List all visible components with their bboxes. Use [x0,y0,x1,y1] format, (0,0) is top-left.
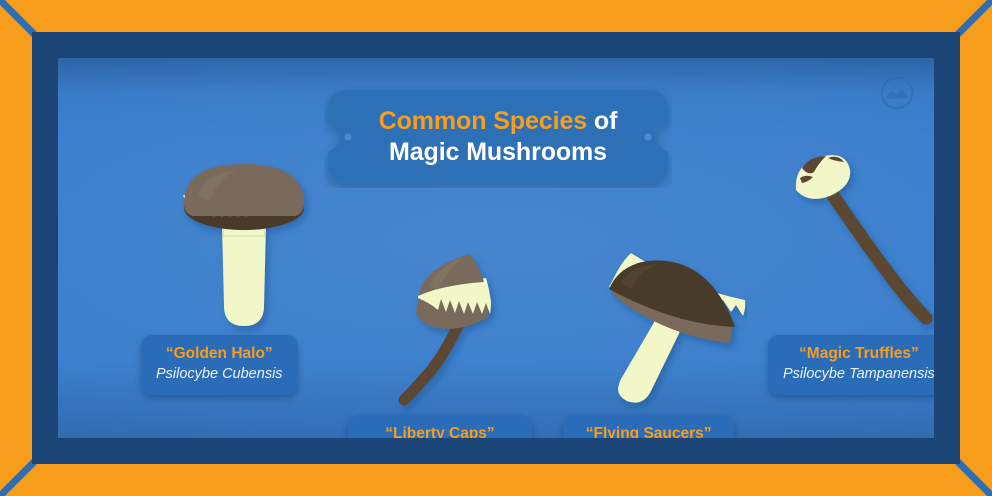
species-card-liberty-caps[interactable]: “Liberty Caps” Psilocybe Semilanceata [348,415,532,438]
title-second-line: Magic Mushrooms [389,138,607,168]
species-card-magic-truffles[interactable]: “Magic Truffles” Psilocybe Tampanensis [768,335,934,395]
species-common-name: “Golden Halo” [156,344,283,365]
mushroom-illustration-liberty-caps [386,246,520,414]
species-card-golden-halo[interactable]: “Golden Halo” Psilocybe Cubensis [141,335,298,395]
species-latin-name: Psilocybe Cubensis [156,365,283,384]
mountain-circle-logo-icon [878,74,916,112]
title-connector-text: of [594,107,617,135]
title-plaque: Common Species of Magic Mushrooms [324,86,672,188]
species-common-name: “Magic Truffles” [783,344,934,365]
mushroom-illustration-magic-truffles [780,146,934,340]
mushroom-illustration-flying-saucers [601,251,747,415]
species-common-name: “Flying Saucers” [578,424,719,438]
title-accent-text: Common Species [379,107,587,135]
species-latin-name: Psilocybe Tampanensis [783,365,934,384]
infographic-panel: Common Species of Magic Mushrooms [58,58,934,438]
mushroom-illustration-golden-halo [176,156,312,342]
species-card-flying-saucers[interactable]: “Flying Saucers” Psilocybe Azurescens [563,415,734,438]
species-common-name: “Liberty Caps” [363,424,517,438]
